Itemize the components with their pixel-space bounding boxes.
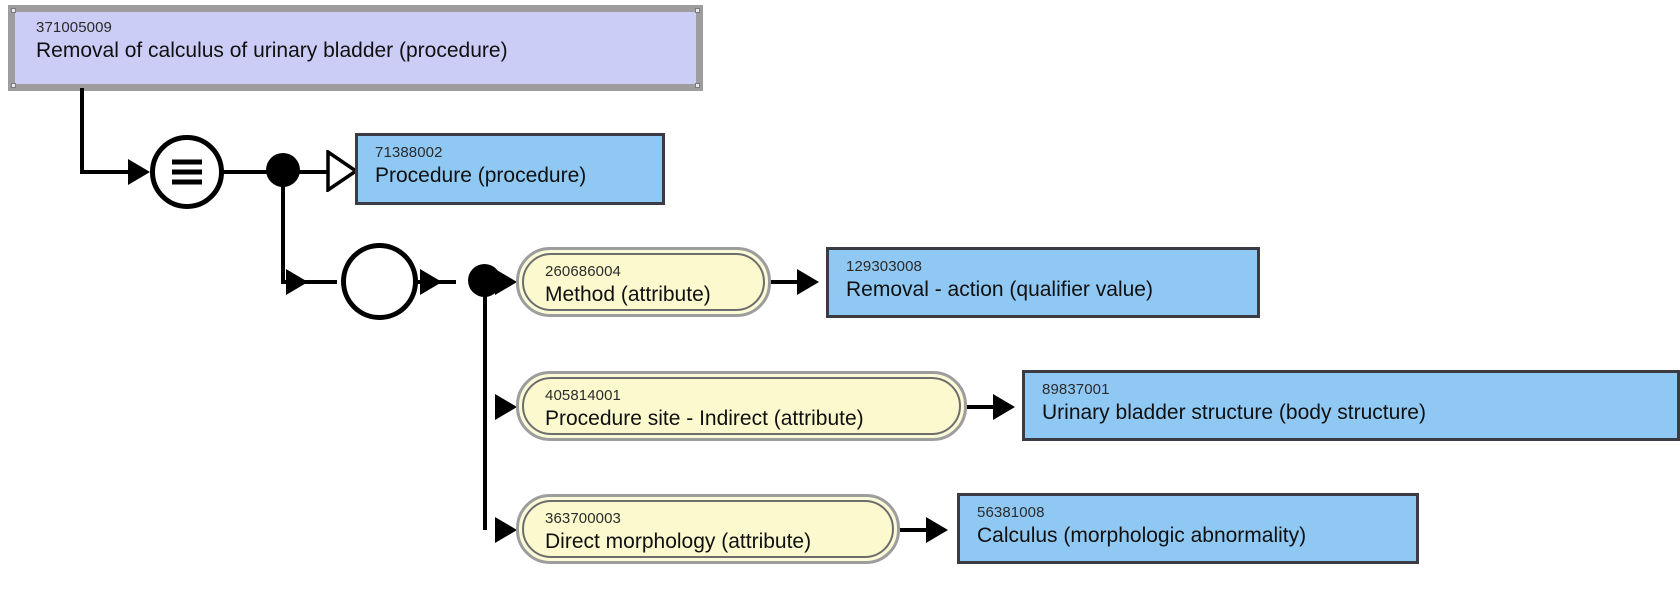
edge-focus-to-equivalence-vertical	[80, 88, 84, 172]
edge-junction-down-to-rolegroup	[281, 185, 285, 282]
resize-handle-bottom-right[interactable]	[695, 83, 700, 88]
value-urinary-bladder-id: 89837001	[1042, 382, 1677, 398]
parent-concept-term: Procedure (procedure)	[375, 164, 662, 188]
arrowhead-method-to-value	[797, 269, 819, 295]
arrowhead-rolegroup-to-junction	[420, 269, 442, 295]
resize-handle-top-left[interactable]	[11, 8, 16, 13]
attribute-procedure-site-term: Procedure site - Indirect (attribute)	[545, 407, 959, 431]
arrowhead-to-attribute-direct-morphology	[495, 517, 517, 543]
attribute-node-direct-morphology[interactable]: 363700003 Direct morphology (attribute)	[516, 494, 900, 564]
value-urinary-bladder-term: Urinary bladder structure (body structur…	[1042, 401, 1677, 425]
arrowhead-direct-morphology-to-value	[926, 517, 948, 543]
arrowhead-isa-hollow	[326, 150, 358, 192]
concept-diagram-canvas: 371005009 Removal of calculus of urinary…	[0, 0, 1680, 616]
value-calculus-term: Calculus (morphologic abnormality)	[977, 524, 1416, 548]
equivalent-bars-icon	[172, 155, 202, 190]
attribute-trunk-line	[483, 294, 487, 530]
focus-concept-id: 371005009	[36, 20, 696, 36]
resize-handle-bottom-left[interactable]	[11, 83, 16, 88]
arrowhead-to-equivalence	[128, 159, 150, 185]
attribute-node-procedure-site[interactable]: 405814001 Procedure site - Indirect (att…	[516, 371, 967, 441]
attribute-method-id: 260686004	[545, 264, 763, 280]
attribute-direct-morphology-id: 363700003	[545, 511, 892, 527]
parent-concept-id: 71388002	[375, 145, 662, 161]
attribute-method-term: Method (attribute)	[545, 283, 763, 307]
value-concept-node-removal-action[interactable]: 129303008 Removal - action (qualifier va…	[826, 247, 1260, 318]
resize-handle-top-right[interactable]	[695, 8, 700, 13]
attribute-procedure-site-id: 405814001	[545, 388, 959, 404]
value-removal-action-term: Removal - action (qualifier value)	[846, 278, 1257, 302]
focus-concept-node[interactable]: 371005009 Removal of calculus of urinary…	[8, 5, 703, 91]
arrowhead-to-attribute-method	[495, 269, 517, 295]
focus-concept-term: Removal of calculus of urinary bladder (…	[36, 39, 696, 63]
value-concept-node-urinary-bladder[interactable]: 89837001 Urinary bladder structure (body…	[1022, 370, 1680, 441]
parent-concept-node[interactable]: 71388002 Procedure (procedure)	[355, 133, 665, 205]
value-concept-node-calculus[interactable]: 56381008 Calculus (morphologic abnormali…	[957, 493, 1419, 564]
role-group-icon[interactable]	[341, 243, 418, 320]
value-calculus-id: 56381008	[977, 505, 1416, 521]
arrowhead-to-rolegroup	[286, 269, 308, 295]
value-removal-action-id: 129303008	[846, 259, 1257, 275]
attribute-node-method[interactable]: 260686004 Method (attribute)	[516, 247, 771, 317]
arrowhead-procedure-site-to-value	[993, 394, 1015, 420]
arrowhead-to-attribute-procedure-site	[495, 394, 517, 420]
attribute-direct-morphology-term: Direct morphology (attribute)	[545, 530, 892, 554]
definition-status-equivalent-icon[interactable]	[150, 135, 224, 209]
junction-dot-parent	[266, 153, 300, 187]
